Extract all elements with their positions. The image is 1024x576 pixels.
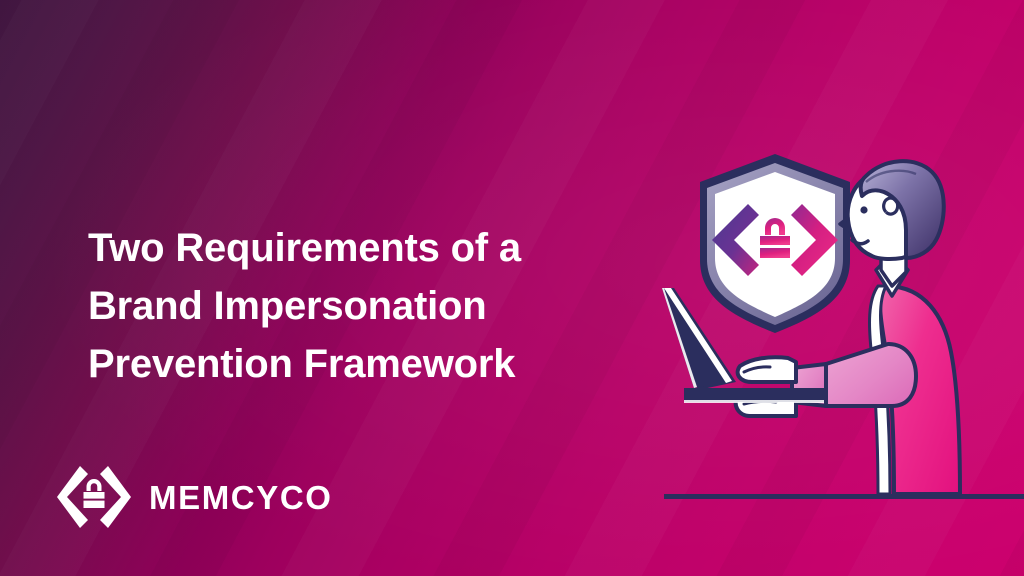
brand-logo[interactable]: MEMCYCO — [57, 462, 333, 532]
hero-illustration — [640, 120, 1024, 576]
page-title: Two Requirements of a Brand Impersonatio… — [88, 219, 628, 393]
bracket-lock-icon — [57, 464, 131, 530]
blog-banner: Two Requirements of a Brand Impersonatio… — [0, 0, 1024, 576]
shield-bracket-lock-icon — [700, 154, 850, 333]
headline-line-1: Two Requirements of a — [88, 219, 628, 277]
desk-line — [664, 494, 1024, 499]
brand-wordmark: MEMCYCO — [149, 481, 333, 514]
headline-line-2: Brand Impersonation — [88, 277, 628, 335]
headline-line-3: Prevention Framework — [88, 335, 628, 393]
